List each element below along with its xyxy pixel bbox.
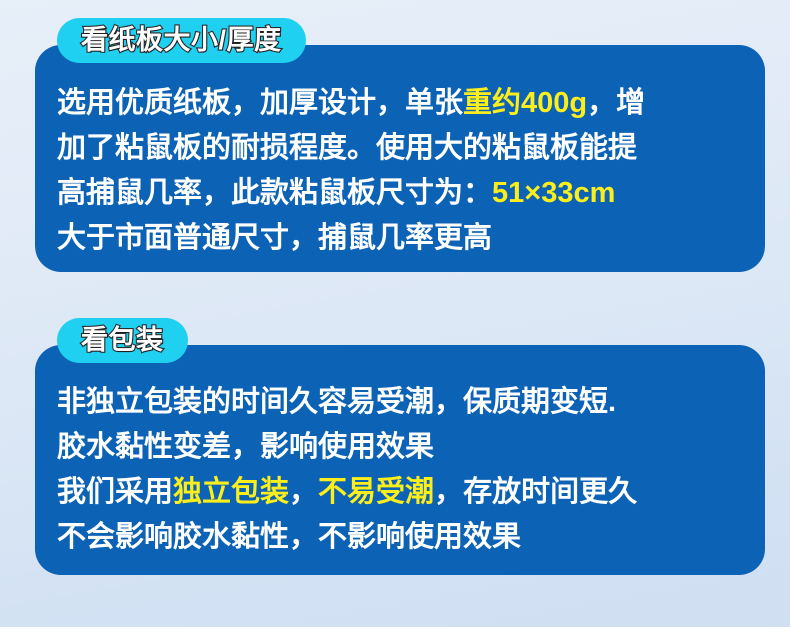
promo-infographic-page: 选用优质纸板，加厚设计，单张重约400g，增加了粘鼠板的耐损程度。使用大的粘鼠板… <box>0 0 790 641</box>
body-text-run: 加了粘鼠板的耐损程度。使用大的粘鼠板能提 <box>57 132 637 164</box>
bottom-white-strip <box>0 627 790 641</box>
text-line: 加了粘鼠板的耐损程度。使用大的粘鼠板能提 <box>57 126 743 171</box>
body-text-run: 我们采用 <box>57 476 173 508</box>
highlighted-text: 不易受潮 <box>318 476 434 508</box>
section-2-panel: 非独立包装的时间久容易受潮，保质期变短.胶水黏性变差，影响使用效果我们采用独立包… <box>35 345 765 575</box>
body-text-run: ，存放时间更久 <box>434 476 637 508</box>
section-1-badge-label: 看纸板大小/厚度 <box>81 27 282 54</box>
section-1-body: 选用优质纸板，加厚设计，单张重约400g，增加了粘鼠板的耐损程度。使用大的粘鼠板… <box>35 81 765 261</box>
text-line: 选用优质纸板，加厚设计，单张重约400g，增 <box>57 81 743 126</box>
body-text-run: ，增 <box>587 87 645 119</box>
text-line: 非独立包装的时间久容易受潮，保质期变短. <box>57 380 743 425</box>
body-text-run: 不会影响胶水黏性，不影响使用效果 <box>57 521 521 553</box>
body-text-run: 高捕鼠几率，此款粘鼠板尺寸为： <box>57 177 492 209</box>
section-1-panel: 选用优质纸板，加厚设计，单张重约400g，增加了粘鼠板的耐损程度。使用大的粘鼠板… <box>35 45 765 272</box>
body-text-run: ， <box>289 476 318 508</box>
body-text-run: 选用优质纸板，加厚设计，单张 <box>57 87 463 119</box>
body-text-run: 非独立包装的时间久容易受潮，保质期变短. <box>57 386 616 418</box>
text-line: 高捕鼠几率，此款粘鼠板尺寸为：51×33cm <box>57 171 743 216</box>
highlighted-text: 51×33cm <box>492 177 615 209</box>
text-line: 我们采用独立包装，不易受潮，存放时间更久 <box>57 470 743 515</box>
body-text-run: 胶水黏性变差，影响使用效果 <box>57 431 434 463</box>
section-2-badge-label: 看包装 <box>81 327 164 354</box>
text-line: 大于市面普通尺寸，捕鼠几率更高 <box>57 216 743 261</box>
body-text-run: 大于市面普通尺寸，捕鼠几率更高 <box>57 222 492 254</box>
highlighted-text: 重约400g <box>463 87 587 119</box>
section-2-badge: 看包装 <box>57 318 188 363</box>
text-line: 不会影响胶水黏性，不影响使用效果 <box>57 515 743 560</box>
highlighted-text: 独立包装 <box>173 476 289 508</box>
text-line: 胶水黏性变差，影响使用效果 <box>57 425 743 470</box>
section-1-badge: 看纸板大小/厚度 <box>57 18 306 63</box>
section-2-body: 非独立包装的时间久容易受潮，保质期变短.胶水黏性变差，影响使用效果我们采用独立包… <box>35 380 765 560</box>
